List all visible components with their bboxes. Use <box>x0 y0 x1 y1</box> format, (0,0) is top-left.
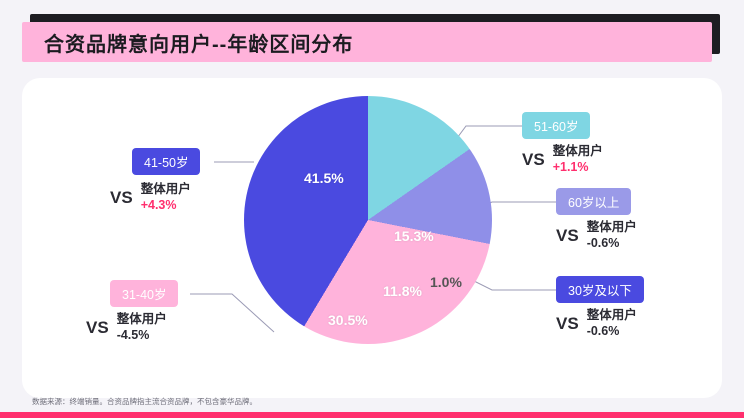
compare-label-60-up: 整体用户 <box>587 220 637 236</box>
annotation-60-up: VS 整体用户 -0.6% <box>556 220 637 251</box>
tag-60-up: 60岁以上 <box>556 188 631 215</box>
annotation-30-under: VS 整体用户 -0.6% <box>556 308 637 339</box>
delta-51-60: +1.1% <box>553 160 603 176</box>
chart-card: 41.5% 15.3% 1.0% 11.8% 30.5% 41-50岁 VS 整… <box>22 78 722 398</box>
vs-label-30-under: VS <box>556 314 579 334</box>
vs-label-51-60: VS <box>522 150 545 170</box>
delta-31-40: -4.5% <box>117 328 167 344</box>
slice-value-30-under: 11.8% <box>383 283 422 299</box>
vs-label-41-50: VS <box>110 188 133 208</box>
compare-label-31-40: 整体用户 <box>117 312 167 328</box>
slice-value-41-50: 41.5% <box>304 170 344 186</box>
page-title: 合资品牌意向用户--年龄区间分布 <box>44 28 353 57</box>
slide-root: 合资品牌意向用户--年龄区间分布 41.5% 15.3% 1.0% 11.8% … <box>0 0 744 418</box>
compare-label-51-60: 整体用户 <box>553 144 603 160</box>
pie-chart: 41.5% 15.3% 1.0% 11.8% 30.5% <box>244 96 492 344</box>
tag-41-50: 41-50岁 <box>132 148 200 175</box>
tag-31-40: 31-40岁 <box>110 280 178 307</box>
compare-label-41-50: 整体用户 <box>141 182 191 198</box>
vs-label-60-up: VS <box>556 226 579 246</box>
tag-51-60: 51-60岁 <box>522 112 590 139</box>
slice-value-60-up: 1.0% <box>430 274 462 290</box>
delta-41-50: +4.3% <box>141 198 191 214</box>
slice-value-51-60: 15.3% <box>394 228 434 244</box>
tag-30-under: 30岁及以下 <box>556 276 644 303</box>
delta-30-under: -0.6% <box>587 324 637 340</box>
vs-label-31-40: VS <box>86 318 109 338</box>
annotation-31-40: VS 整体用户 -4.5% <box>86 312 167 343</box>
compare-label-30-under: 整体用户 <box>587 308 637 324</box>
footnote: 数据来源：终端销量。合资品牌指主流合资品牌，不包含豪华品牌。 <box>32 396 257 407</box>
annotation-51-60: VS 整体用户 +1.1% <box>522 144 603 175</box>
bottom-accent-bar <box>0 412 744 418</box>
title-bar: 合资品牌意向用户--年龄区间分布 <box>22 22 712 62</box>
delta-60-up: -0.6% <box>587 236 637 252</box>
pie-slices <box>244 96 492 344</box>
annotation-41-50: VS 整体用户 +4.3% <box>110 182 191 213</box>
slice-value-31-40: 30.5% <box>328 312 368 328</box>
